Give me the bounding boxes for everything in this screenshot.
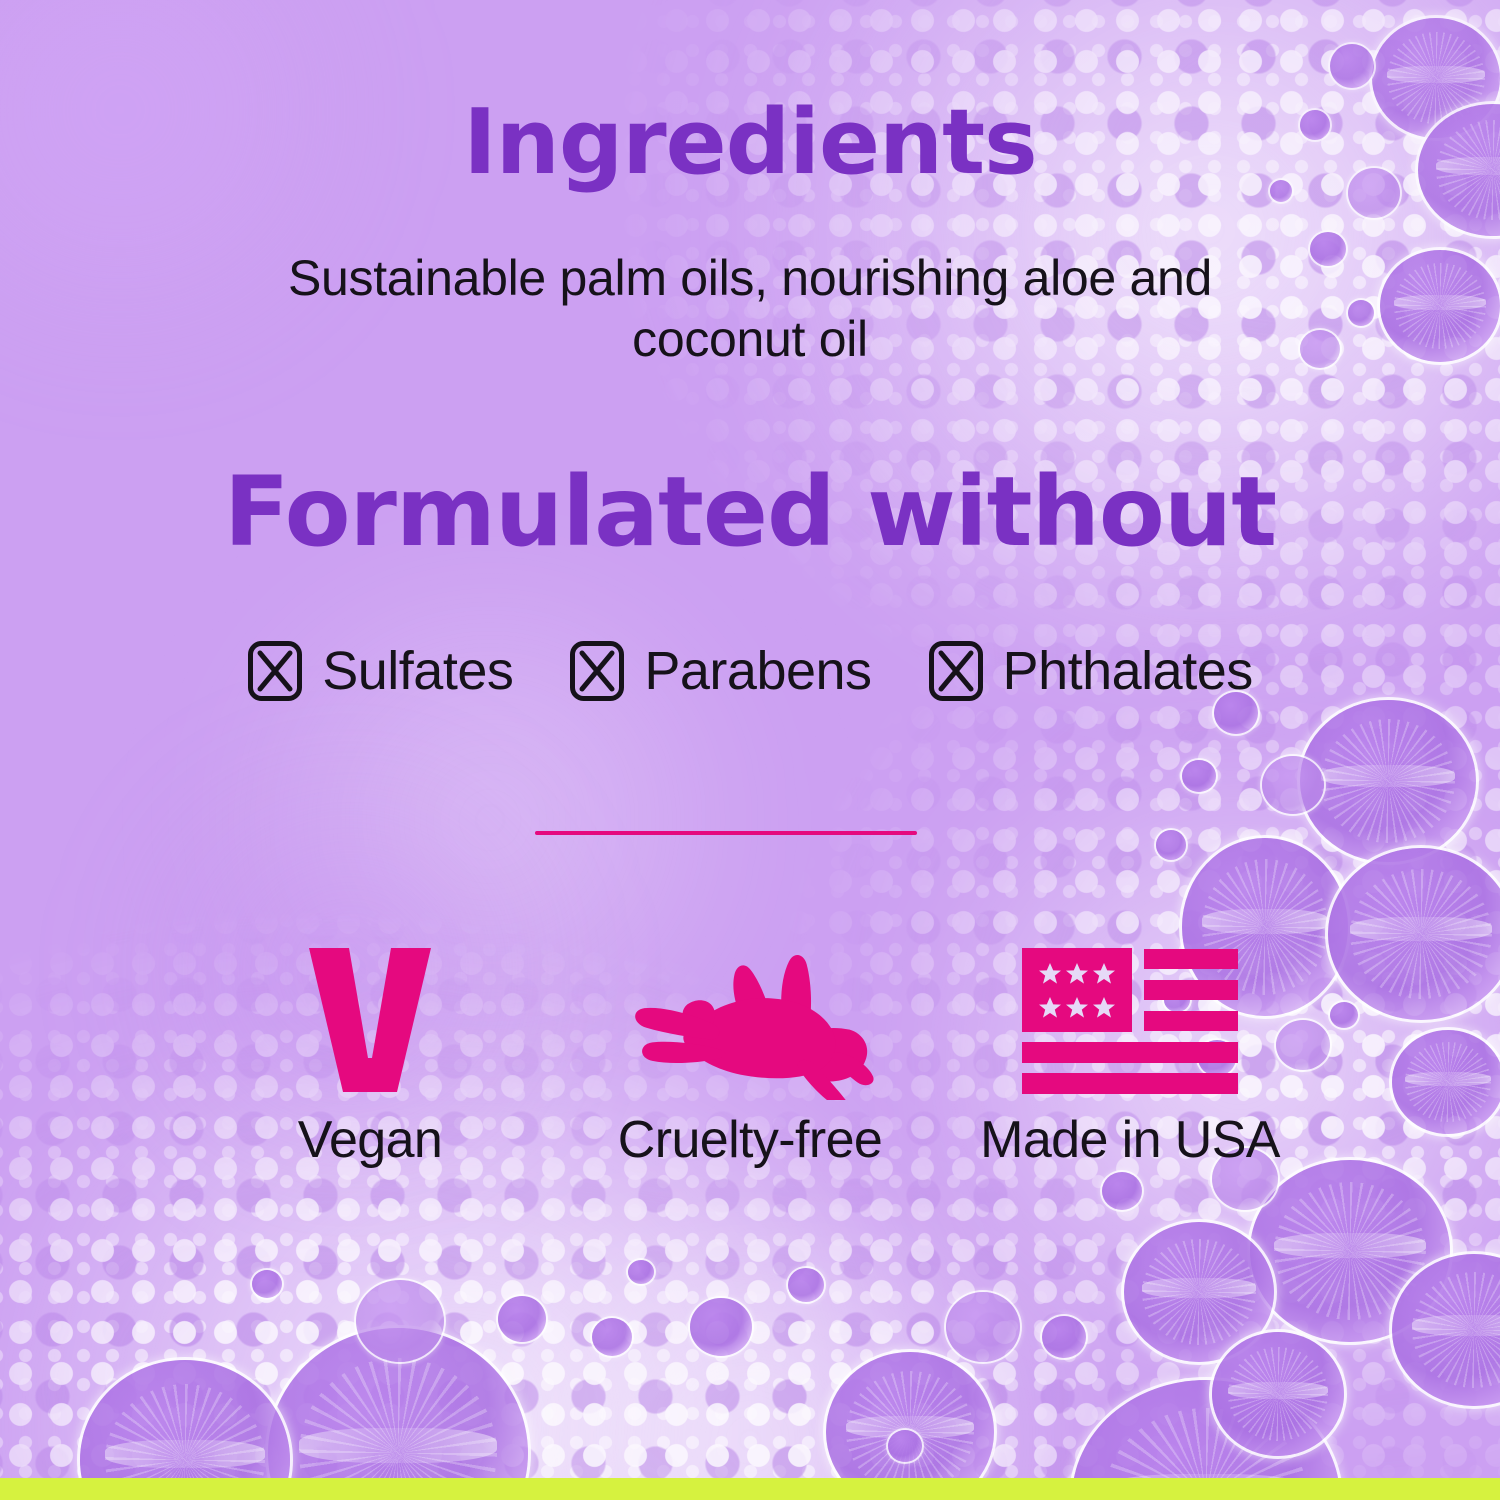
badge-vegan: Vegan — [220, 925, 520, 1166]
free-from-label: Sulfates — [322, 644, 513, 698]
free-from-label: Phthalates — [1003, 644, 1253, 698]
ingredients-description: Sustainable palm oils, nourishing aloe a… — [250, 248, 1250, 370]
badge-label: Cruelty-free — [618, 1114, 882, 1166]
free-from-item-sulfates: Sulfates — [247, 640, 513, 702]
ingredients-heading: Ingredients — [0, 96, 1500, 191]
leaping-bunny-icon — [620, 925, 880, 1100]
usa-flag-icon — [1022, 925, 1238, 1100]
badge-cruelty-free: Cruelty-free — [600, 925, 900, 1166]
badge-made-in-usa: Made in USA — [980, 925, 1280, 1166]
badge-label: Vegan — [298, 1114, 443, 1166]
certification-badges: Vegan — [0, 925, 1500, 1166]
section-divider — [535, 831, 917, 835]
free-from-label: Parabens — [644, 644, 871, 698]
vegan-v-icon — [305, 925, 435, 1100]
badge-label: Made in USA — [980, 1114, 1280, 1166]
free-from-item-parabens: Parabens — [569, 640, 871, 702]
x-in-box-icon — [928, 640, 984, 702]
x-in-box-icon — [247, 640, 303, 702]
bottom-accent-bar — [0, 1478, 1500, 1500]
free-from-item-phthalates: Phthalates — [928, 640, 1253, 702]
formulated-without-heading: Formulated without — [0, 462, 1500, 563]
x-in-box-icon — [569, 640, 625, 702]
formulated-without-list: Sulfates Parabens Phthalates — [0, 640, 1500, 702]
